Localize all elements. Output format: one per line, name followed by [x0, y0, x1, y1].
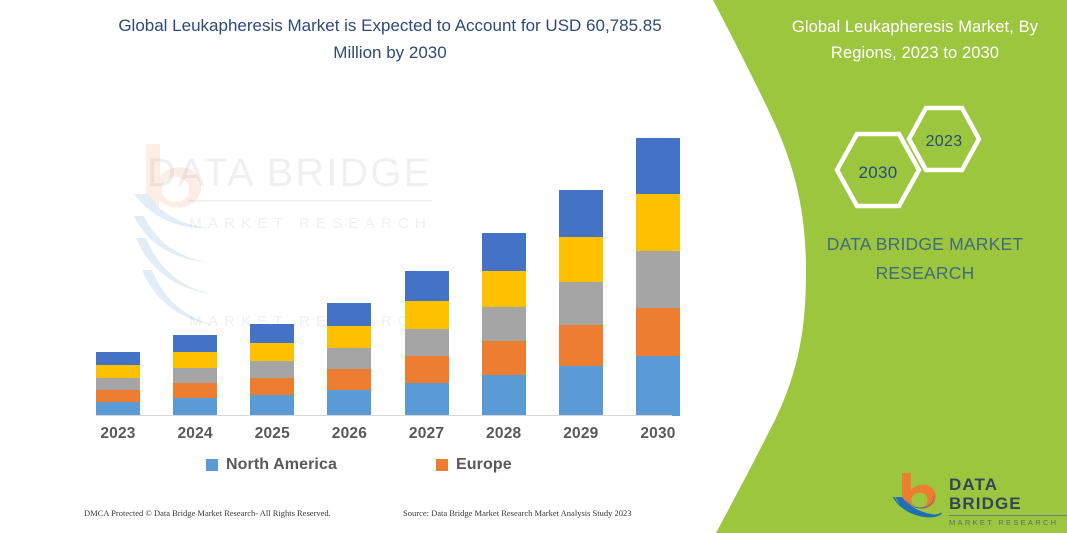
bar-column: [173, 120, 217, 416]
bar-segment: [636, 308, 680, 356]
bar-segment: [173, 352, 217, 368]
logo-name-top: DATA BRIDGE: [949, 475, 1067, 513]
x-axis-tick-label: 2026: [327, 425, 371, 443]
bar-segment: [559, 325, 603, 366]
x-axis-labels: 20232024202520262027202820292030: [96, 425, 680, 443]
data-bridge-logo-wordmark: DATA BRIDGE MARKET RESEARCH: [949, 475, 1067, 528]
footer-source: Source: Data Bridge Market Research Mark…: [403, 508, 632, 518]
bar-segment: [173, 398, 217, 416]
bar-segment: [327, 348, 371, 369]
legend-swatch: [206, 459, 218, 471]
bar-segment: [636, 138, 680, 194]
data-bridge-logo-mark-icon: [893, 470, 945, 518]
bar-segment: [327, 369, 371, 390]
bar-column: [405, 120, 449, 416]
bar-segment: [636, 356, 680, 416]
bar-segment: [250, 361, 294, 378]
bar-segment: [405, 383, 449, 416]
right-panel-brand-text: DATA BRIDGE MARKET RESEARCH: [790, 230, 1060, 288]
bar-segment: [482, 307, 526, 341]
bar-segment: [173, 383, 217, 398]
bar-segment: [173, 335, 217, 352]
bar-segment: [636, 194, 680, 251]
hexagon-label-2023: 2023: [905, 104, 983, 179]
bar-segment: [173, 368, 217, 383]
data-bridge-logo: DATA BRIDGE MARKET RESEARCH: [893, 470, 1061, 518]
bar-segment: [250, 343, 294, 361]
bar-segment: [250, 378, 294, 395]
legend-label: North America: [226, 456, 337, 474]
bar-segment: [327, 303, 371, 326]
bar-column: [250, 120, 294, 416]
chart-title: Global Leukapheresis Market is Expected …: [110, 12, 670, 66]
x-axis-tick-label: 2024: [173, 425, 217, 443]
bar-column: [636, 120, 680, 416]
chart-legend: North AmericaEurope: [206, 456, 576, 474]
bar-segment: [559, 366, 603, 416]
bar-segment: [405, 271, 449, 301]
logo-name-bottom: MARKET RESEARCH: [949, 518, 1067, 528]
x-axis-tick-label: 2023: [96, 425, 140, 443]
x-axis-tick-label: 2029: [559, 425, 603, 443]
logo-divider: [949, 515, 1067, 516]
bar-column: [482, 120, 526, 416]
infographic-canvas: Global Leukapheresis Market, By Regions,…: [0, 0, 1067, 533]
bar-segment: [559, 190, 603, 237]
bar-segment: [250, 324, 294, 343]
bar-segment: [327, 326, 371, 348]
bar-column: [559, 120, 603, 416]
bar-segment: [405, 329, 449, 356]
bar-segment: [482, 233, 526, 271]
bar-segment: [96, 352, 140, 365]
bar-column: [96, 120, 140, 416]
bar-segment: [250, 395, 294, 416]
bar-segment: [559, 237, 603, 282]
bar-segment: [96, 390, 140, 402]
x-axis-tick-label: 2025: [250, 425, 294, 443]
bar-segment: [636, 251, 680, 308]
footer-copyright: DMCA Protected © Data Bridge Market Rese…: [84, 508, 331, 518]
bar-segment: [327, 390, 371, 416]
x-axis-tick-label: 2027: [405, 425, 449, 443]
bar-segment: [405, 356, 449, 383]
hexagon-badge-2023: 2023: [905, 104, 983, 179]
bar-column: [327, 120, 371, 416]
right-panel-title: Global Leukapheresis Market, By Regions,…: [770, 14, 1060, 66]
bar-segment: [482, 375, 526, 416]
bar-segment: [559, 282, 603, 325]
legend-item[interactable]: Europe: [436, 456, 512, 474]
x-axis-tick-label: 2028: [482, 425, 526, 443]
legend-label: Europe: [456, 456, 512, 474]
bar-segment: [482, 271, 526, 307]
bar-segment: [96, 378, 140, 390]
x-axis-tick-label: 2030: [636, 425, 680, 443]
legend-swatch: [436, 459, 448, 471]
bar-segment: [482, 341, 526, 375]
bar-segment: [96, 365, 140, 378]
bar-segment: [96, 402, 140, 416]
bar-segment: [405, 301, 449, 329]
legend-item[interactable]: North America: [206, 456, 436, 474]
x-axis-line: [96, 415, 672, 416]
bar-chart-plot-area: [96, 120, 680, 416]
